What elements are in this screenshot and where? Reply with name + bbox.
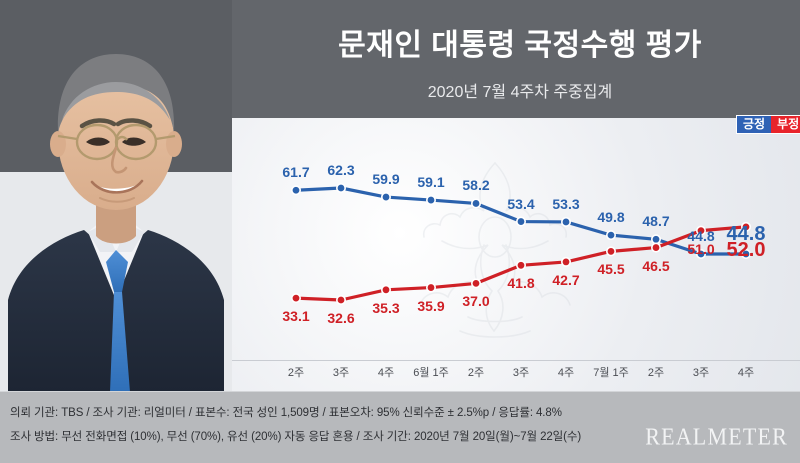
x-axis-tick: 4주 [558,364,574,380]
legend-item-negative: 부정 [771,116,800,133]
value-label: 37.0 [462,293,489,309]
value-label: 59.9 [372,171,399,187]
president-portrait [0,0,232,392]
x-axis-tick: 2주 [648,364,664,380]
value-label: 59.1 [417,174,444,190]
value-label: 33.1 [282,308,309,324]
realmeter-logo: REALMETER [645,423,788,451]
value-label: 46.5 [642,258,669,274]
x-axis-tick: 7월 1주 [593,364,629,380]
x-axis-tick: 4주 [378,364,394,380]
value-label: 49.8 [597,209,624,225]
value-label: 58.2 [462,177,489,193]
portrait-illustration [0,0,232,392]
value-label: 53.4 [507,196,534,212]
value-label: 45.5 [597,261,624,277]
value-label: 62.3 [327,162,354,178]
value-label: 35.9 [417,298,444,314]
value-label: 48.7 [642,213,669,229]
value-label: 51.0 [687,241,714,257]
value-label: 53.3 [552,196,579,212]
value-label: 41.8 [507,275,534,291]
x-axis-tick: 4주 [738,364,754,380]
x-axis-tick: 2주 [468,364,484,380]
x-axis-tick: 3주 [333,364,349,380]
value-label: 42.7 [552,272,579,288]
footer-line-2: 조사 방법: 무선 전화면접 (10%), 무선 (70%), 유선 (20%)… [10,428,581,444]
page-subtitle: 2020년 7월 4주차 주중집계 [240,78,800,102]
x-axis-tick: 6월 1주 [413,364,449,380]
x-axis-tick: 2주 [288,364,304,380]
poll-chart-infographic: 문재인 대통령 국정수행 평가 2020년 7월 4주차 주중집계 긍정 부정 … [0,0,800,463]
footer-line-1: 의뢰 기관: TBS / 조사 기관: 리얼미터 / 표본수: 전국 성인 1,… [10,404,562,420]
value-label: 35.3 [372,300,399,316]
page-title: 문재인 대통령 국정수행 평가 [240,20,800,64]
value-label: 61.7 [282,164,309,180]
x-axis-tick: 3주 [513,364,529,380]
legend: 긍정 부정 [736,115,800,134]
value-label: 32.6 [327,310,354,326]
x-axis-line [232,360,800,361]
legend-item-positive: 긍정 [737,116,771,133]
x-axis-tick: 3주 [693,364,709,380]
value-label: 52.0 [727,239,766,262]
